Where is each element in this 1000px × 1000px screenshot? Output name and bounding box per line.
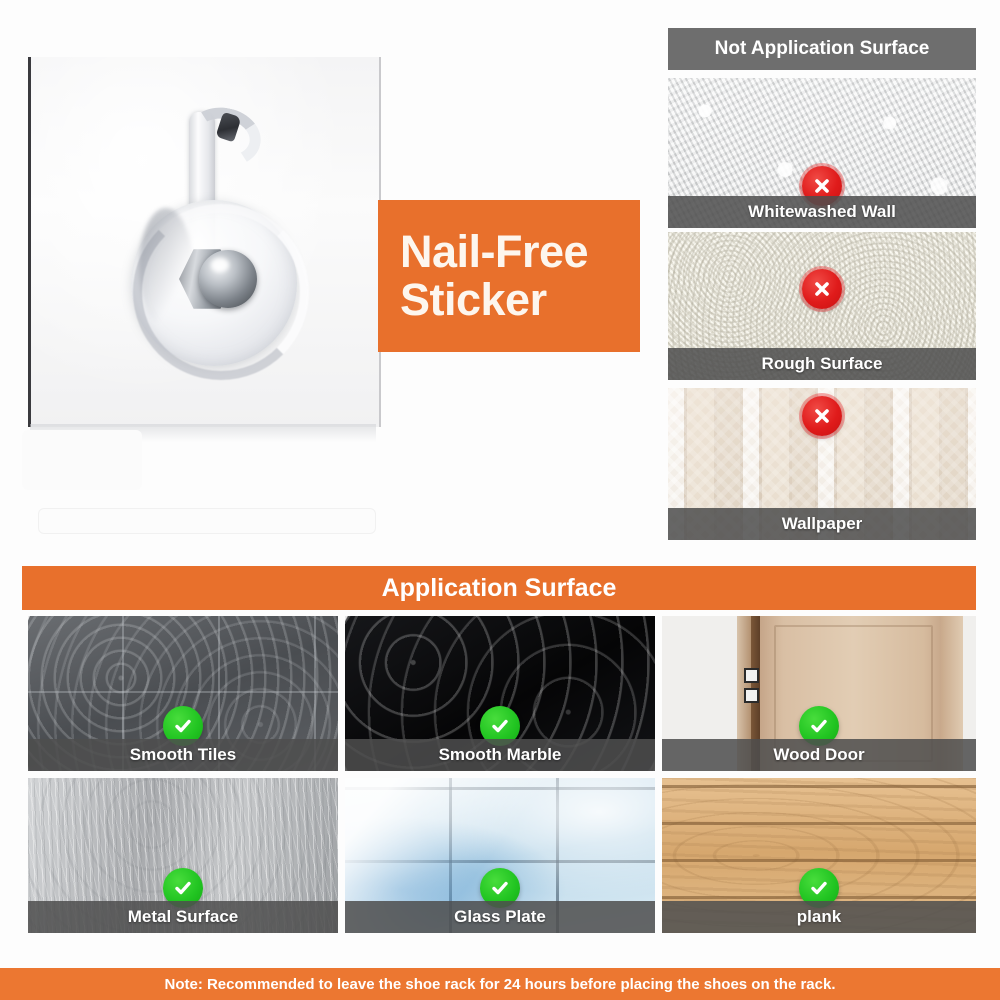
background-shape-a	[22, 430, 142, 490]
tile-caption: Wallpaper	[668, 508, 976, 540]
tile-caption-label: Rough Surface	[762, 354, 883, 374]
tile-caption: Smooth Marble	[345, 739, 655, 771]
tile-caption-label: Wallpaper	[782, 514, 863, 534]
banner-line-2: Sticker	[400, 276, 640, 324]
ball-highlight	[211, 258, 229, 272]
tile-caption-label: Smooth Marble	[439, 745, 562, 765]
application-tile-plank: plank	[662, 778, 976, 933]
not-application-tile-wallpaper: Wallpaper	[668, 388, 976, 540]
note-bar: Note: Recommended to leave the shoe rack…	[0, 968, 1000, 1000]
application-tile-smooth-tiles: Smooth Tiles	[28, 616, 338, 771]
tile-caption-label: plank	[797, 907, 841, 927]
cross-icon	[802, 396, 842, 436]
infographic-canvas: Nail-Free Sticker Not Application Surfac…	[0, 0, 1000, 1000]
application-tile-wood-door: Wood Door	[662, 616, 976, 771]
banner-line-1: Nail-Free	[400, 228, 640, 276]
tile-caption-label: Wood Door	[773, 745, 864, 765]
not-application-tile-rough-surface: Rough Surface	[668, 232, 976, 380]
tile-caption: Rough Surface	[668, 348, 976, 380]
cross-icon	[802, 269, 842, 309]
tile-caption: plank	[662, 901, 976, 933]
tile-caption-label: Whitewashed Wall	[748, 202, 896, 222]
application-tile-smooth-marble: Smooth Marble	[345, 616, 655, 771]
chrome-ball-knob	[199, 250, 257, 308]
tile-caption: Glass Plate	[345, 901, 655, 933]
not-application-header-label: Not Application Surface	[715, 38, 930, 60]
application-surface-header: Application Surface	[22, 566, 976, 610]
tile-caption: Smooth Tiles	[28, 739, 338, 771]
tile-caption-label: Glass Plate	[454, 907, 546, 927]
product-photo	[28, 57, 381, 427]
not-application-header: Not Application Surface	[668, 28, 976, 70]
application-tile-metal-surface: Metal Surface	[28, 778, 338, 933]
note-text: Note: Recommended to leave the shoe rack…	[164, 976, 835, 993]
adhesive-hook-product	[127, 112, 297, 372]
tile-caption-label: Metal Surface	[128, 907, 239, 927]
door-hinge-top	[744, 668, 759, 683]
door-hinge-bottom	[744, 688, 759, 703]
nail-free-sticker-banner: Nail-Free Sticker	[378, 200, 640, 352]
tile-caption: Wood Door	[662, 739, 976, 771]
tile-caption: Whitewashed Wall	[668, 196, 976, 228]
application-surface-header-label: Application Surface	[382, 574, 617, 603]
application-tile-glass-plate: Glass Plate	[345, 778, 655, 933]
background-shape-b	[38, 508, 376, 534]
not-application-tile-whitewashed-wall: Whitewashed Wall	[668, 78, 976, 228]
tile-caption-label: Smooth Tiles	[130, 745, 236, 765]
tile-caption: Metal Surface	[28, 901, 338, 933]
